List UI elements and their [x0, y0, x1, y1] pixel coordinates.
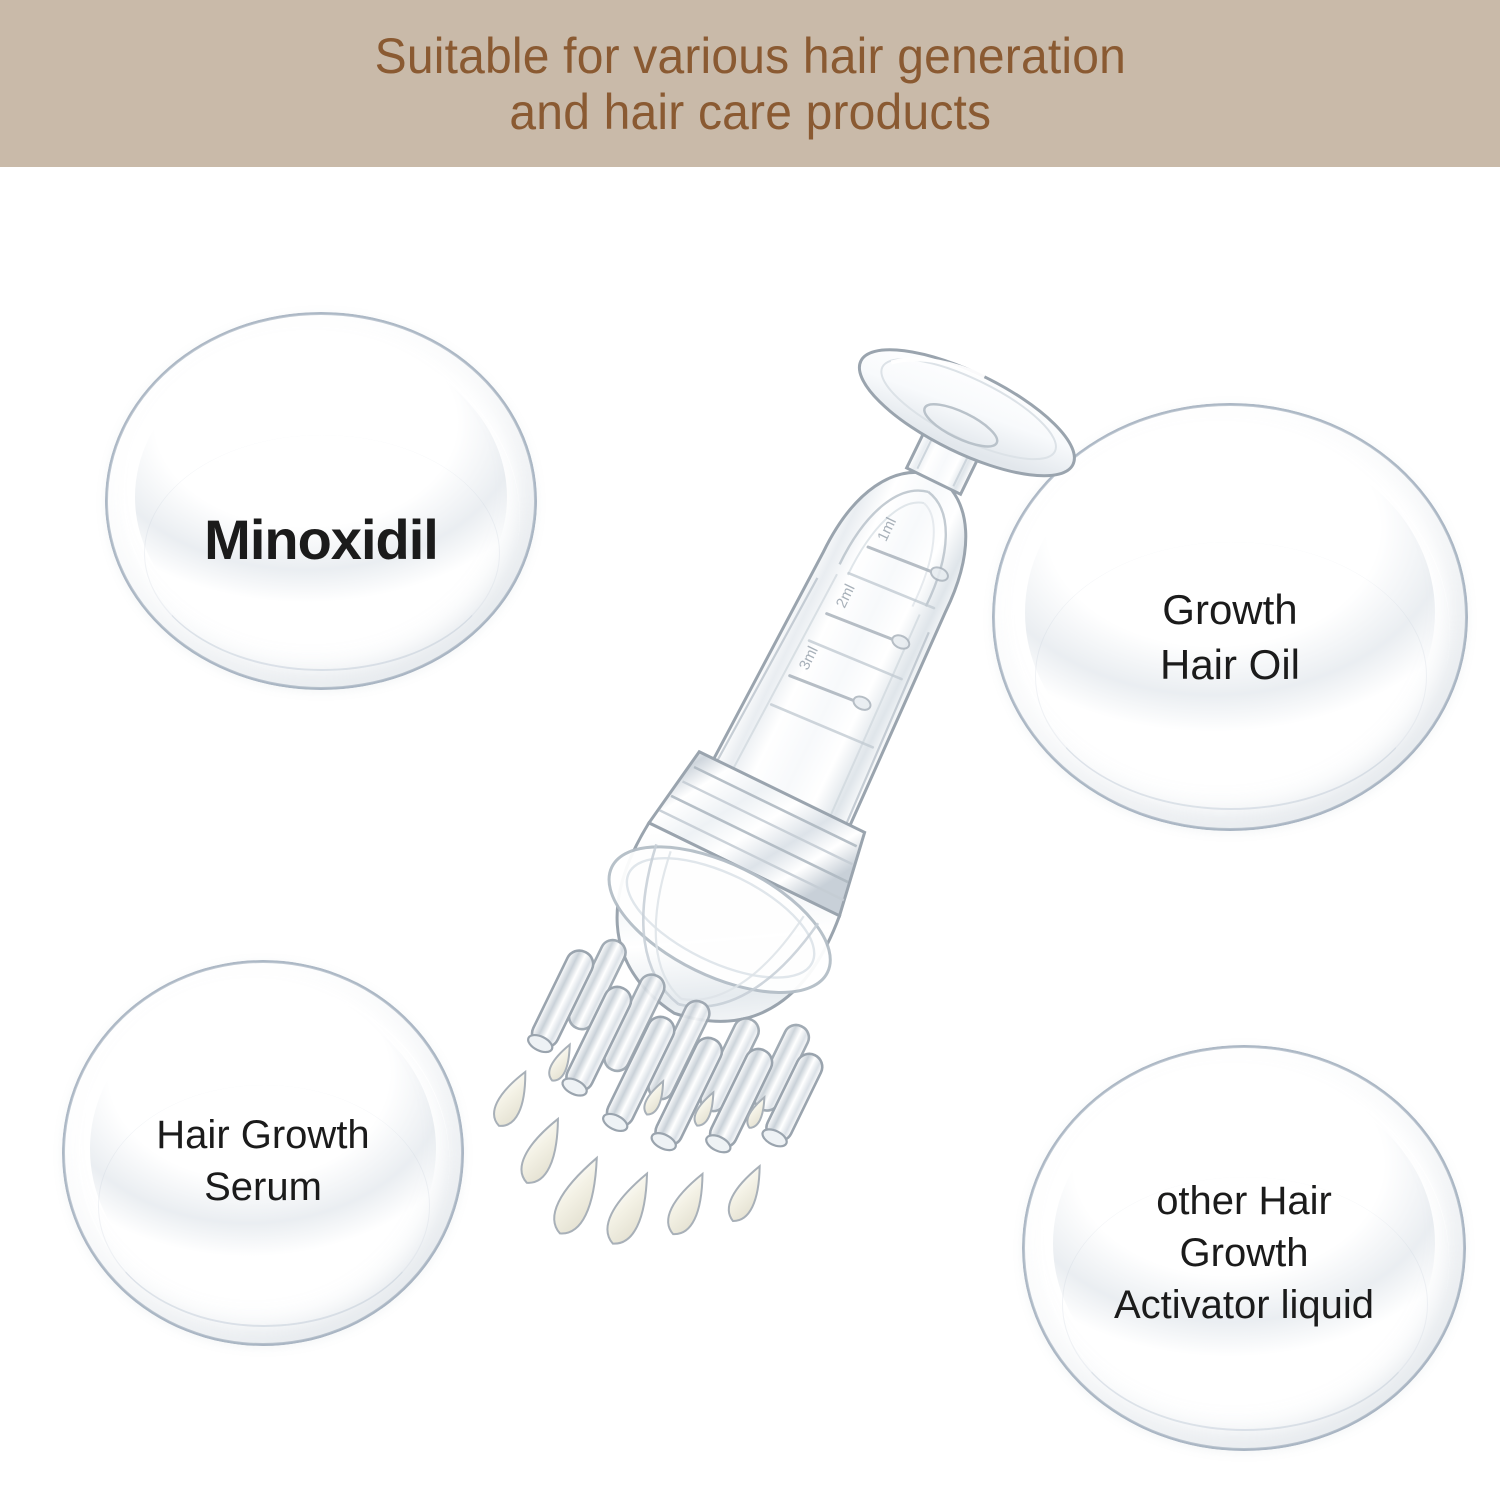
bubble-label-growth-hair-oil: Growth Hair Oil [1160, 583, 1300, 692]
header-line-2: and hair care products [374, 84, 1125, 140]
bubble-label-minoxidil: Minoxidil [204, 504, 438, 577]
bubble-label-hair-growth-serum: Hair Growth Serum [156, 1109, 369, 1213]
header-banner: Suitable for various hair generation and… [0, 0, 1500, 167]
bubble-highlight-arc-icon [62, 960, 464, 1346]
product-image-scalp-applicator: 1ml 2ml 3ml [430, 317, 1090, 1327]
bubble-lower-arc-icon [98, 1085, 430, 1326]
bubble-specular-highlight-icon [82, 1087, 97, 1143]
bubble-lower-arc-icon [1062, 1177, 1428, 1431]
header-text: Suitable for various hair generation and… [374, 28, 1125, 140]
header-line-1: Suitable for various hair generation [374, 28, 1125, 84]
bubble-specular-highlight-icon [127, 437, 142, 493]
bubble-lower-arc-icon [1035, 542, 1427, 809]
bubble-label-activator-liquid: other Hair Growth Activator liquid [1114, 1175, 1374, 1331]
bubble-hair-growth-serum: Hair Growth Serum [62, 960, 464, 1346]
bottle-body: 1ml 2ml 3ml [711, 442, 1005, 830]
product-stage: Minoxidil Growth Hair Oil Hair Growth Se… [0, 167, 1500, 1500]
